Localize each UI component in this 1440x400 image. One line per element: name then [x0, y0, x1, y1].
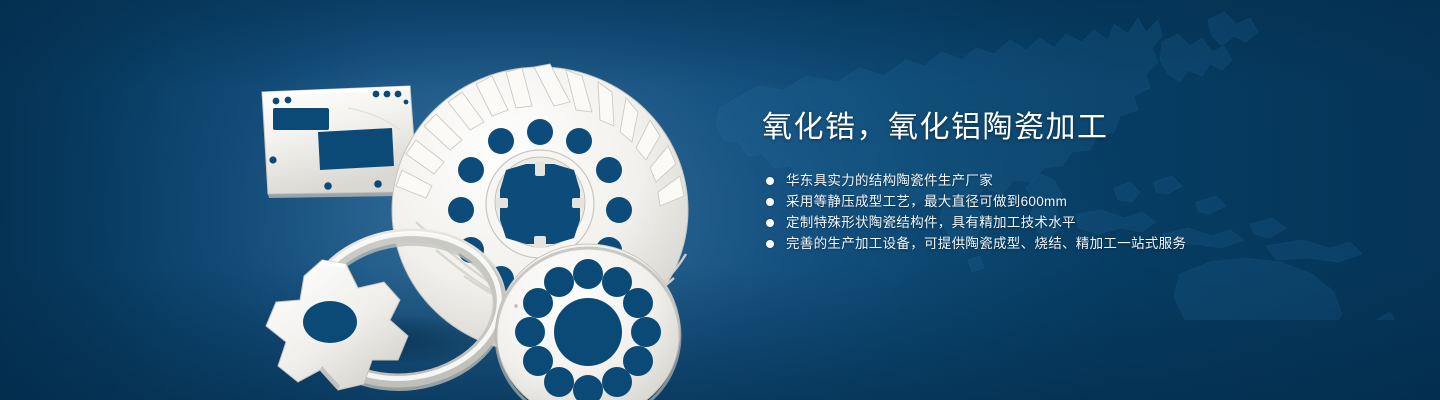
hero-banner: 氧化锆，氧化铝陶瓷加工 华东具实力的结构陶瓷件生产厂家 采用等静压成型工艺，最大…	[0, 0, 1440, 400]
page-title: 氧化锆，氧化铝陶瓷加工	[762, 108, 1322, 148]
list-item: 华东具实力的结构陶瓷件生产厂家	[766, 170, 1322, 191]
bullet-dot-icon	[766, 198, 774, 206]
copy-block: 氧化锆，氧化铝陶瓷加工 华东具实力的结构陶瓷件生产厂家 采用等静压成型工艺，最大…	[762, 108, 1322, 254]
list-item: 采用等静压成型工艺，最大直径可做到600mm	[766, 191, 1322, 212]
bullet-dot-icon	[766, 219, 774, 227]
bullet-dot-icon	[766, 177, 774, 185]
product-flat-plate	[262, 86, 416, 198]
list-item-label: 定制特殊形状陶瓷结构件，具有精加工技术水平	[786, 212, 1076, 233]
list-item: 定制特殊形状陶瓷结构件，具有精加工技术水平	[766, 212, 1322, 233]
list-item-label: 华东具实力的结构陶瓷件生产厂家	[786, 170, 993, 191]
bullet-dot-icon	[766, 240, 774, 248]
list-item-label: 采用等静压成型工艺，最大直径可做到600mm	[786, 191, 1067, 212]
product-cross-lobed	[266, 260, 408, 390]
feature-list: 华东具实力的结构陶瓷件生产厂家 采用等静压成型工艺，最大直径可做到600mm 定…	[766, 170, 1322, 254]
ceramic-products-group	[240, 40, 690, 380]
list-item-label: 完善的生产加工设备，可提供陶瓷成型、烧结、精加工一站式服务	[786, 233, 1186, 254]
list-item: 完善的生产加工设备，可提供陶瓷成型、烧结、精加工一站式服务	[766, 233, 1322, 254]
